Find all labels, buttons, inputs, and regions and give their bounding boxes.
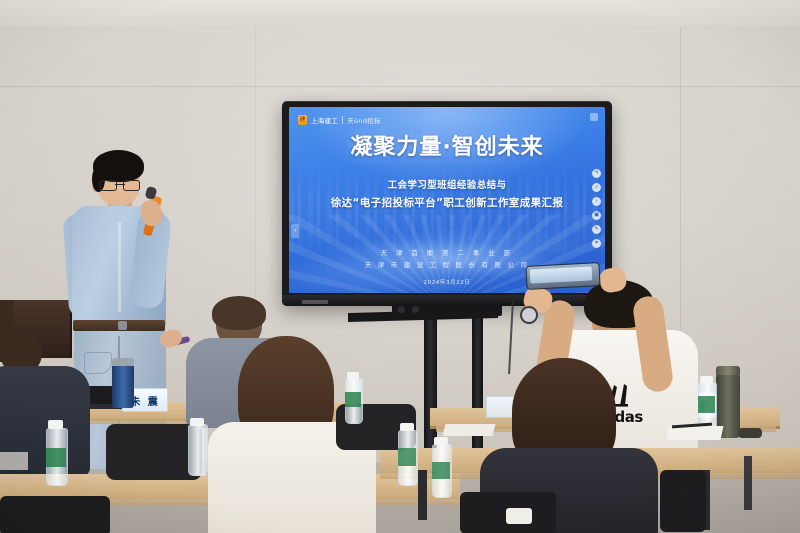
office-chair bbox=[0, 496, 110, 533]
wall-seam bbox=[680, 0, 681, 330]
conference-room-photo: 建 上海建工 天ünd招标 凝聚力量·智创未来 工会学习型班组经验总结与 徐达“… bbox=[0, 0, 800, 533]
slide-date: 2024年3月22日 bbox=[424, 278, 471, 286]
slide-org-line1: 天 津 首 衡 第 二 事 业 部 bbox=[381, 247, 514, 257]
attendee-hair bbox=[212, 296, 266, 330]
eyeglasses bbox=[100, 180, 140, 189]
notebook bbox=[443, 424, 496, 436]
bottle-label bbox=[698, 396, 715, 413]
trouser-pocket bbox=[84, 352, 112, 374]
slide-subtitle-line2: 徐达“电子招投标平台”职工创新工作室成果汇报 bbox=[331, 195, 564, 210]
bottle-cap bbox=[347, 372, 359, 379]
shirt-placket bbox=[118, 212, 121, 312]
ceiling-band bbox=[0, 0, 800, 26]
thermos-lid bbox=[738, 428, 762, 438]
display-brand-mark bbox=[302, 300, 328, 304]
bottle-label bbox=[46, 448, 66, 467]
mount-bolt bbox=[412, 306, 419, 313]
table-leg bbox=[744, 456, 752, 510]
wall-seam bbox=[255, 0, 256, 330]
display-side-toolbar[interactable]: ↰ ⌂ › ▣ ✎ ✦ bbox=[592, 169, 601, 248]
slide-subtitle-line1: 工会学习型班组经验总结与 bbox=[388, 177, 507, 191]
belt-buckle bbox=[118, 321, 127, 330]
chevron-right-icon[interactable]: › bbox=[291, 224, 299, 238]
pen-icon[interactable]: ✎ bbox=[592, 225, 601, 234]
bottle-label bbox=[398, 448, 416, 466]
bottle-cap bbox=[190, 418, 204, 426]
bottle-label bbox=[432, 462, 450, 479]
bottle-cap bbox=[48, 420, 63, 429]
chevron-right-icon[interactable]: › bbox=[592, 197, 601, 206]
table-leg bbox=[418, 470, 427, 520]
bottle-cap bbox=[400, 423, 414, 431]
paper bbox=[0, 452, 28, 470]
bottle-cap bbox=[434, 437, 448, 445]
slide-org-line2: 天 津 市 建 设 工 程 股 份 有 限 公 司 bbox=[365, 259, 529, 269]
name-placard-text: 朱 震 bbox=[130, 393, 159, 408]
back-arrow-icon[interactable]: ↰ bbox=[592, 169, 601, 178]
screenshot-icon[interactable]: ▣ bbox=[592, 211, 601, 220]
office-chair bbox=[660, 470, 706, 532]
slide-title: 凝聚力量·智创未来 bbox=[350, 137, 543, 159]
bottle-cap bbox=[700, 376, 713, 383]
tumbler-lid bbox=[112, 358, 134, 366]
bottle-label bbox=[345, 392, 361, 407]
stand-pole-rear bbox=[472, 316, 483, 466]
home-icon[interactable]: ⌂ bbox=[592, 183, 601, 192]
more-icon[interactable]: ✦ bbox=[592, 239, 601, 248]
water-bottle bbox=[188, 424, 208, 476]
cup bbox=[506, 508, 532, 524]
mount-bolt bbox=[398, 306, 405, 313]
thermos-cap bbox=[716, 366, 740, 375]
tumbler bbox=[112, 364, 134, 408]
minimize-icon[interactable] bbox=[590, 113, 598, 121]
